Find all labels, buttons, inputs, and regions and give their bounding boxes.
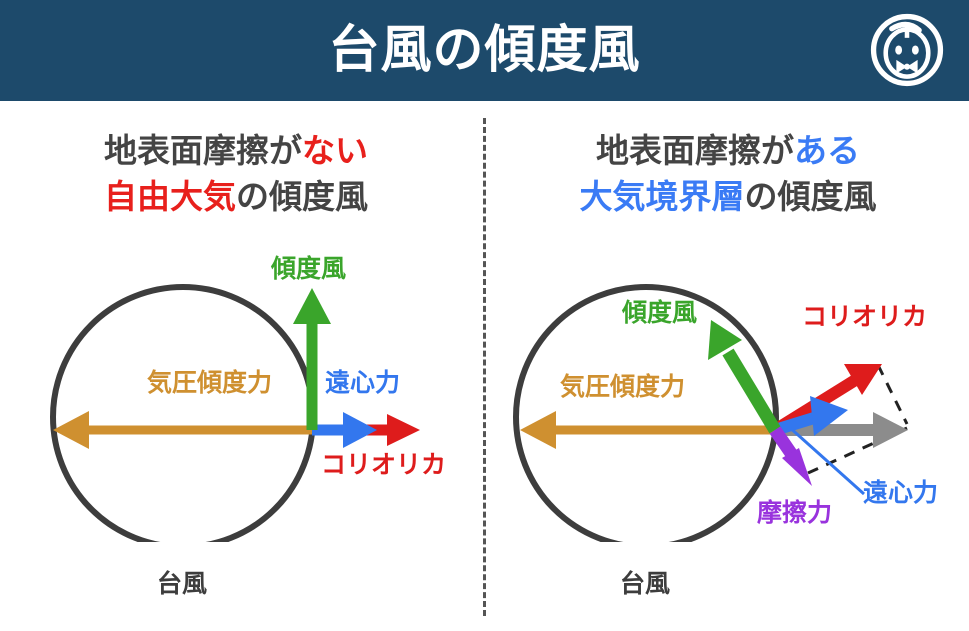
left-heading-line2-part2: の傾度風 (236, 177, 368, 216)
right-typhoon-label: 台風 (620, 564, 670, 600)
left-panel-heading: 地表面摩擦がない 自由大気の傾度風 (6, 128, 466, 220)
left-diagram: 傾度風 気圧傾度力 遠心力 コリオリカ 台風 (5, 252, 475, 542)
panel-divider (483, 118, 486, 616)
right-heading-line1-part1: 地表面摩擦が (596, 131, 794, 170)
right-centrifugal-force-label: 遠心力 (863, 480, 938, 505)
left-gradient-wind-label: 傾度風 (271, 256, 346, 281)
friction-force-arrow (775, 430, 812, 486)
pressure-gradient-force-arrow (520, 411, 775, 449)
right-heading-line1-part2: ある (794, 131, 860, 170)
left-pressure-gradient-force-label: 気圧傾度力 (147, 370, 272, 395)
right-friction-force-label: 摩擦力 (757, 500, 832, 525)
left-typhoon-label: 台風 (157, 564, 207, 600)
left-coriolis-force-label: コリオリカ (321, 452, 446, 477)
right-panel-heading: 地表面摩擦がある 大気境界層の傾度風 (498, 128, 958, 220)
page-header: 台風の傾度風 (0, 0, 969, 101)
left-centrifugal-force-label: 遠心力 (325, 370, 400, 395)
mascot-circle-logo-icon (869, 12, 945, 88)
right-gradient-wind-label: 傾度風 (622, 300, 697, 325)
diagram-page: 台風の傾度風 地表面摩擦がない 自由大気の傾度風 地表面摩擦がある 大気境界層の… (0, 0, 969, 631)
typhoon-circle (53, 287, 313, 542)
right-heading-line2-part2: の傾度風 (745, 177, 877, 216)
right-heading-line1: 地表面摩擦がある (498, 128, 958, 174)
pressure-gradient-force-arrow (53, 411, 312, 449)
left-diagram-svg (5, 252, 475, 542)
right-coriolis-force-label: コリオリカ (802, 304, 927, 329)
gradient-wind-arrow (708, 320, 775, 430)
left-heading-line1-part2: ない (302, 131, 368, 170)
right-diagram: 傾度風 気圧傾度力 コリオリカ 遠心力 摩擦力 台風 (492, 252, 962, 542)
right-heading-line2: 大気境界層の傾度風 (498, 174, 958, 220)
left-heading-line1: 地表面摩擦がない (6, 128, 466, 174)
page-title: 台風の傾度風 (0, 0, 969, 101)
left-heading-line1-part1: 地表面摩擦が (104, 131, 302, 170)
left-heading-line2-part1: 自由大気 (104, 177, 236, 216)
right-heading-line2-part1: 大気境界層 (580, 177, 745, 216)
right-pressure-gradient-force-label: 気圧傾度力 (560, 374, 685, 399)
left-heading-line2: 自由大気の傾度風 (6, 174, 466, 220)
centrifugal-force-arrow (312, 412, 377, 448)
